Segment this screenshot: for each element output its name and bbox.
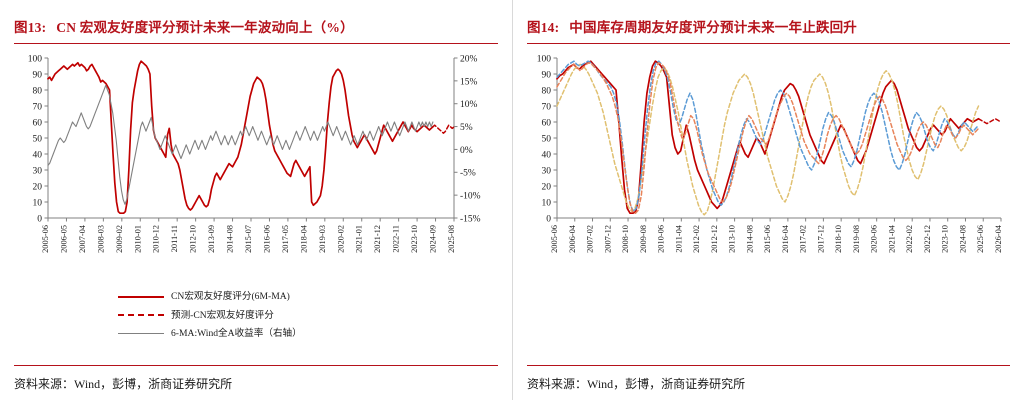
svg-text:0: 0: [546, 214, 551, 224]
figure-panel-13: 图13: CN 宏观友好度评分预计未来一年波动向上（%） 01020304050…: [0, 0, 512, 400]
svg-text:2022-02: 2022-02: [905, 225, 914, 253]
svg-text:2013-10: 2013-10: [728, 225, 737, 253]
svg-text:50: 50: [33, 134, 43, 144]
svg-text:70: 70: [542, 102, 552, 112]
svg-text:2012-10: 2012-10: [189, 225, 198, 253]
svg-text:15%: 15%: [460, 77, 478, 87]
svg-text:2010-06: 2010-06: [657, 225, 666, 253]
svg-text:40: 40: [542, 150, 552, 160]
svg-text:100: 100: [28, 54, 43, 64]
svg-text:2017-02: 2017-02: [799, 225, 808, 253]
svg-text:2014-08: 2014-08: [745, 225, 754, 253]
svg-text:2005-06: 2005-06: [550, 225, 559, 253]
svg-text:80: 80: [542, 86, 552, 96]
svg-text:60: 60: [542, 118, 552, 128]
svg-text:2011-04: 2011-04: [674, 224, 683, 252]
svg-text:10%: 10%: [460, 100, 478, 110]
svg-text:20: 20: [542, 182, 552, 192]
legend-label: 6-MA:Wind全A收益率（右轴）: [171, 329, 302, 339]
svg-text:2006-04: 2006-04: [568, 224, 577, 253]
svg-text:2007-04: 2007-04: [78, 224, 87, 253]
figure-14-title-bar: 图14: 中国库存周期友好度评分预计未来一年止跌回升: [527, 0, 1010, 36]
svg-text:2022-11: 2022-11: [392, 225, 401, 253]
svg-text:2026-04: 2026-04: [994, 224, 1003, 253]
svg-text:2024-09: 2024-09: [429, 225, 438, 253]
svg-text:2023-10: 2023-10: [410, 225, 419, 253]
svg-text:2025-08: 2025-08: [447, 225, 456, 253]
legend-label: 预测-CN宏观友好度评分: [171, 311, 274, 321]
svg-text:2010-01: 2010-01: [133, 225, 142, 253]
legend-item: CN宏观友好度评分(6M-MA): [118, 292, 302, 302]
svg-text:5%: 5%: [460, 123, 473, 133]
figure-14-title: 中国库存周期友好度评分预计未来一年止跌回升: [569, 16, 857, 36]
svg-text:-10%: -10%: [460, 192, 481, 202]
svg-text:0: 0: [37, 214, 42, 224]
svg-text:60: 60: [33, 118, 43, 128]
svg-text:2017-12: 2017-12: [816, 225, 825, 253]
svg-text:2014-08: 2014-08: [226, 225, 235, 253]
svg-text:30: 30: [542, 166, 552, 176]
svg-text:2007-12: 2007-12: [603, 225, 612, 253]
svg-text:2018-10: 2018-10: [834, 225, 843, 253]
svg-text:50: 50: [542, 134, 552, 144]
figure-14-source: 资料来源：Wind，彭博，浙商证券研究所: [527, 375, 745, 392]
svg-text:2009-02: 2009-02: [115, 225, 124, 253]
figure-13-source-rule: [14, 365, 498, 366]
svg-text:2020-02: 2020-02: [336, 225, 345, 253]
legend-label: CN宏观友好度评分(6M-MA): [171, 292, 290, 302]
svg-text:2016-04: 2016-04: [781, 224, 790, 253]
svg-text:2016-06: 2016-06: [262, 225, 271, 253]
svg-text:20: 20: [33, 182, 43, 192]
legend-swatch-dashed-red: [118, 314, 164, 316]
figure-14-title-rule: [527, 43, 1010, 44]
figures-sheet: 图13: CN 宏观友好度评分预计未来一年波动向上（%） 01020304050…: [0, 0, 1024, 400]
svg-text:-15%: -15%: [460, 214, 481, 224]
figure-13-title-bar: 图13: CN 宏观友好度评分预计未来一年波动向上（%）: [14, 0, 498, 36]
svg-text:2006-05: 2006-05: [59, 225, 68, 253]
figure-13-title: CN 宏观友好度评分预计未来一年波动向上（%）: [56, 16, 353, 36]
svg-text:90: 90: [33, 70, 43, 80]
svg-text:2023-10: 2023-10: [941, 225, 950, 253]
svg-text:2012-12: 2012-12: [710, 225, 719, 253]
svg-text:40: 40: [33, 150, 43, 160]
svg-text:2015-06: 2015-06: [763, 225, 772, 253]
svg-text:70: 70: [33, 102, 43, 112]
figure-13-title-rule: [14, 43, 498, 44]
svg-text:10: 10: [542, 198, 552, 208]
svg-text:20%: 20%: [460, 54, 478, 64]
svg-text:2021-01: 2021-01: [355, 225, 364, 253]
figure-panel-14: 图14: 中国库存周期友好度评分预计未来一年止跌回升 0102030405060…: [512, 0, 1024, 400]
svg-text:2011-11: 2011-11: [170, 225, 179, 252]
figure-14-source-rule: [527, 365, 1010, 366]
svg-text:2010-12: 2010-12: [152, 225, 161, 253]
legend-item: 6-MA:Wind全A收益率（右轴）: [118, 329, 302, 339]
svg-text:2019-08: 2019-08: [852, 225, 861, 253]
svg-text:2020-06: 2020-06: [870, 225, 879, 253]
svg-text:2012-02: 2012-02: [692, 225, 701, 253]
svg-text:2005-06: 2005-06: [41, 225, 50, 253]
svg-text:-5%: -5%: [460, 169, 476, 179]
svg-text:30: 30: [33, 166, 43, 176]
legend-swatch-solid-red: [118, 296, 164, 298]
figure-14-chart: 01020304050607080901002005-062006-042007…: [527, 50, 1011, 340]
svg-text:100: 100: [537, 54, 552, 64]
svg-text:2022-12: 2022-12: [923, 225, 932, 253]
svg-text:2021-04: 2021-04: [887, 224, 896, 253]
svg-text:2013-09: 2013-09: [207, 225, 216, 253]
svg-text:2009-08: 2009-08: [639, 225, 648, 253]
svg-text:2019-03: 2019-03: [318, 225, 327, 253]
figure-13-number: 图13:: [14, 16, 46, 36]
figure-14-number: 图14:: [527, 16, 559, 36]
svg-text:2008-10: 2008-10: [621, 225, 630, 253]
svg-text:90: 90: [542, 70, 552, 80]
svg-text:2025-06: 2025-06: [976, 225, 985, 253]
legend-swatch-solid-grey: [118, 333, 164, 334]
figure-14-plot-area: 01020304050607080901002005-062006-042007…: [527, 50, 1010, 340]
svg-text:2018-04: 2018-04: [299, 224, 308, 253]
svg-text:2024-08: 2024-08: [958, 225, 967, 253]
svg-text:2015-07: 2015-07: [244, 225, 253, 253]
figure-13-source: 资料来源：Wind，彭博，浙商证券研究所: [14, 375, 232, 392]
svg-text:2021-12: 2021-12: [373, 225, 382, 253]
legend-item: 预测-CN宏观友好度评分: [118, 311, 302, 321]
svg-text:80: 80: [33, 86, 43, 96]
svg-text:2017-05: 2017-05: [281, 225, 290, 253]
svg-text:10: 10: [33, 198, 43, 208]
figure-13-legend: CN宏观友好度评分(6M-MA) 预测-CN宏观友好度评分 6-MA:Wind全…: [118, 292, 302, 348]
svg-text:2008-03: 2008-03: [96, 225, 105, 253]
svg-text:0%: 0%: [460, 146, 473, 156]
svg-text:2007-02: 2007-02: [586, 225, 595, 253]
